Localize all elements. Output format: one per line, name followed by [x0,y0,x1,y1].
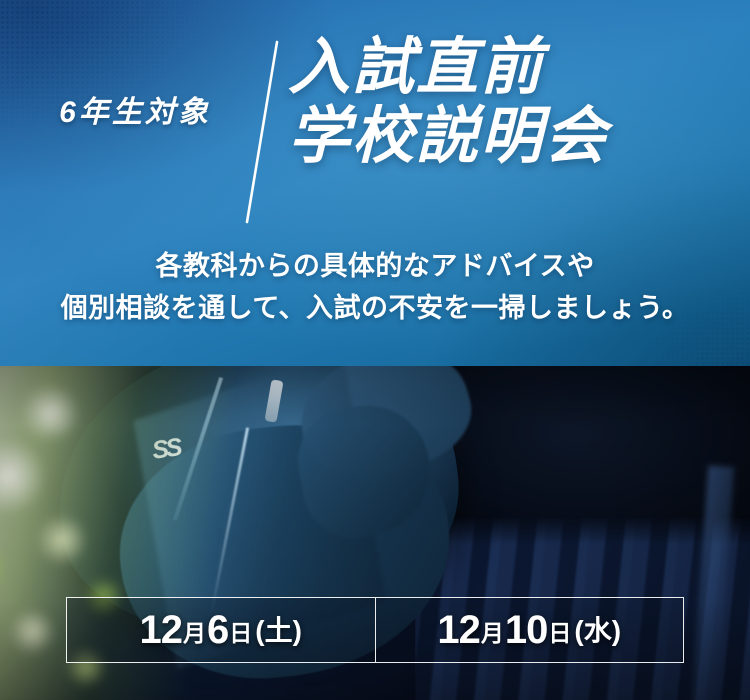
title-line-1: 入試直前 [288,36,740,99]
banner-header: 6年生対象 入試直前 学校説明会 各教科からの具体的なアドバイスや 個別相談を通… [0,0,750,366]
date-1-day: 6 [207,610,228,650]
date-item-2[interactable]: 12 月 10 日 (水) [375,598,684,662]
date-1-month-unit: 月 [183,622,206,645]
title-line-2: 学校説明会 [288,105,740,168]
page-title: 入試直前 学校説明会 [288,36,740,168]
lead-text: 各教科からの具体的なアドバイスや 個別相談を通して、入試の不安を一掃しましょう。 [0,246,750,330]
audience-label: 6年生対象 [26,98,244,128]
date-2-day-unit: 日 [548,622,571,645]
lead-line-2: 個別相談を通して、入試の不安を一掃しましょう。 [0,288,750,330]
diagonal-divider-icon [244,40,282,224]
date-2-month: 12 [437,610,480,650]
date-1-weekday: (土) [255,617,302,645]
date-2-day: 10 [505,610,548,650]
date-item-1[interactable]: 12 月 6 日 (土) [67,598,375,662]
event-banner: 6年生対象 入試直前 学校説明会 各教科からの具体的なアドバイスや 個別相談を通… [0,0,750,700]
date-1-day-unit: 日 [229,622,252,645]
lead-line-1: 各教科からの具体的なアドバイスや [0,246,750,288]
date-1-month: 12 [140,610,183,650]
date-list: 12 月 6 日 (土) 12 月 10 日 (水) [66,597,684,663]
date-2-month-unit: 月 [481,622,504,645]
date-2-weekday: (水) [574,617,621,645]
